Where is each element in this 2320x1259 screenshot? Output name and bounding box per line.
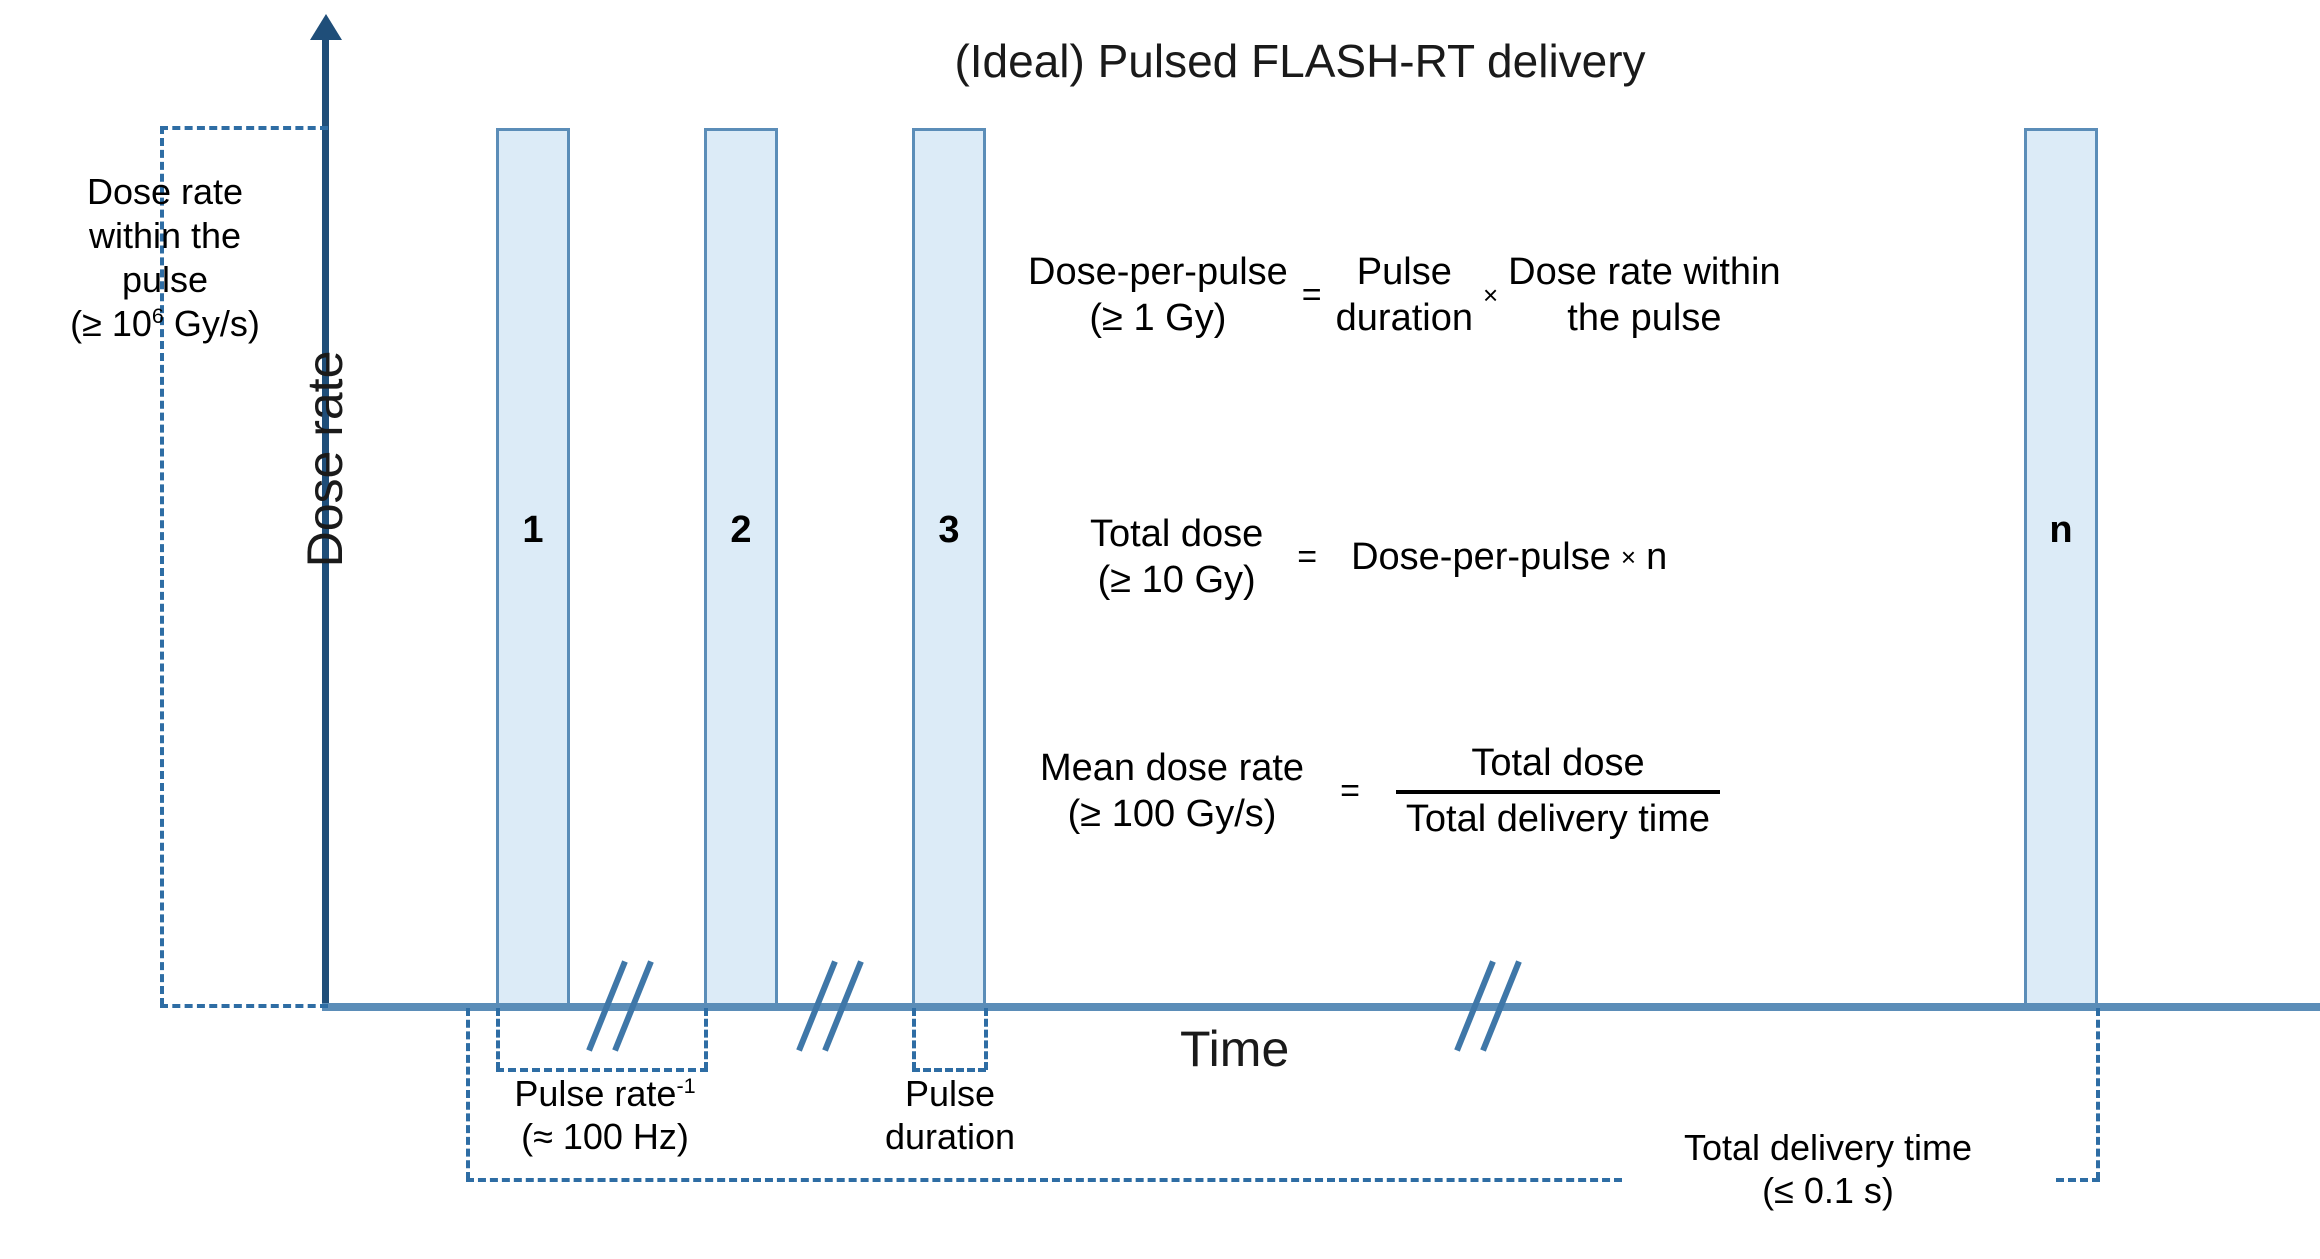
pulse-bar-1: 1 — [496, 128, 570, 1006]
equation-3-numerator: Total dose — [1396, 742, 1720, 790]
pulse-duration-bracket-left — [912, 1008, 916, 1070]
diagram-title: (Ideal) Pulsed FLASH-RT delivery — [700, 34, 1900, 88]
annotation-exponent: 6 — [152, 303, 164, 328]
equation-1-equals-sign: = — [1288, 276, 1336, 315]
pulse-bar-3-label: 3 — [915, 509, 983, 552]
pulse-bar-1-label: 1 — [499, 509, 567, 552]
axis-break-mark-3 — [1468, 958, 1512, 1054]
equation-1-term-1: Pulse duration — [1336, 250, 1473, 341]
equation-total-dose: Total dose (≥ 10 Gy) = Dose-per-pulse × … — [1090, 512, 1667, 603]
annotation-suffix: Gy/s) — [164, 303, 260, 344]
pulse-rate-prefix: Pulse rate — [514, 1073, 676, 1114]
equation-1-term-1-line-1: Pulse — [1336, 250, 1473, 296]
total-delivery-time-annotation: Total delivery time (≤ 0.1 s) — [1578, 1126, 2078, 1212]
equation-2-times-sign: × — [1611, 542, 1646, 573]
pulse-rate-line-1: Pulse rate-1 — [450, 1072, 760, 1115]
equation-1-times-sign: × — [1473, 280, 1508, 311]
equation-3-lhs: Mean dose rate (≥ 100 Gy/s) — [1040, 746, 1304, 837]
equation-2-lhs-line-1: Total dose — [1090, 512, 1263, 558]
annotation-line-1: Dose rate — [20, 170, 310, 214]
pulse-rate-annotation: Pulse rate-1 (≈ 100 Hz) — [450, 1072, 760, 1158]
total-delivery-time-line-1: Total delivery time — [1578, 1126, 2078, 1169]
total-delivery-bracket-left — [466, 1008, 470, 1180]
equation-dose-per-pulse: Dose-per-pulse (≥ 1 Gy) = Pulse duration… — [1028, 250, 1781, 341]
x-axis-label: Time — [1180, 1020, 1289, 1078]
pulse-bar-2-label: 2 — [707, 509, 775, 552]
pulse-bar-3: 3 — [912, 128, 986, 1006]
annotation-line-2: within the — [20, 214, 310, 258]
left-bracket-bottom — [160, 1004, 328, 1008]
equation-3-denominator: Total delivery time — [1396, 790, 1720, 842]
equation-3-fraction: Total dose Total delivery time — [1396, 742, 1720, 841]
equation-1-lhs: Dose-per-pulse (≥ 1 Gy) — [1028, 250, 1288, 341]
axis-break-mark-2 — [810, 958, 854, 1054]
annotation-line-4: (≥ 106 Gy/s) — [20, 302, 310, 346]
equation-2-rhs: Dose-per-pulse — [1351, 535, 1611, 581]
total-delivery-bracket-right — [2096, 1008, 2100, 1180]
annotation-prefix: (≥ 10 — [70, 303, 152, 344]
pulse-duration-line-1: Pulse — [828, 1072, 1072, 1115]
pulse-bar-n: n — [2024, 128, 2098, 1006]
equation-2-rhs-factor: n — [1646, 535, 1667, 581]
equation-2-equals-sign: = — [1263, 538, 1351, 577]
total-delivery-time-line-2: (≤ 0.1 s) — [1578, 1169, 2078, 1212]
equation-1-term-2: Dose rate within the pulse — [1508, 250, 1780, 341]
left-bracket-top — [160, 126, 328, 130]
pulse-duration-annotation: Pulse duration — [828, 1072, 1072, 1158]
equation-3-equals-sign: = — [1304, 772, 1396, 811]
equation-3-lhs-line-2: (≥ 100 Gy/s) — [1040, 792, 1304, 838]
equation-1-lhs-line-2: (≥ 1 Gy) — [1028, 296, 1288, 342]
equation-2-lhs: Total dose (≥ 10 Gy) — [1090, 512, 1263, 603]
equation-1-term-2-line-1: Dose rate within — [1508, 250, 1780, 296]
pulse-bar-n-label: n — [2027, 509, 2095, 552]
equation-3-lhs-line-1: Mean dose rate — [1040, 746, 1304, 792]
equation-1-lhs-line-1: Dose-per-pulse — [1028, 250, 1288, 296]
pulse-rate-bracket-left — [496, 1008, 500, 1070]
equation-1-term-1-line-2: duration — [1336, 296, 1473, 342]
total-delivery-bracket-bottom-left — [466, 1178, 1622, 1182]
pulse-duration-bracket-right — [984, 1008, 988, 1070]
axis-break-mark-1 — [600, 958, 644, 1054]
pulse-rate-bracket-right — [704, 1008, 708, 1070]
equation-mean-dose-rate: Mean dose rate (≥ 100 Gy/s) = Total dose… — [1040, 742, 1720, 841]
y-axis-label: Dose rate — [296, 309, 354, 609]
flash-rt-diagram: (Ideal) Pulsed FLASH-RT delivery Dose ra… — [0, 0, 2320, 1259]
pulse-rate-exponent: -1 — [676, 1073, 695, 1098]
equation-2-lhs-line-2: (≥ 10 Gy) — [1090, 558, 1263, 604]
pulse-bar-2: 2 — [704, 128, 778, 1006]
annotation-line-3: pulse — [20, 258, 310, 302]
pulse-rate-line-2: (≈ 100 Hz) — [450, 1115, 760, 1158]
equation-1-term-2-line-2: the pulse — [1508, 296, 1780, 342]
pulse-duration-line-2: duration — [828, 1115, 1072, 1158]
dose-rate-within-pulse-annotation: Dose rate within the pulse (≥ 106 Gy/s) — [20, 170, 310, 346]
